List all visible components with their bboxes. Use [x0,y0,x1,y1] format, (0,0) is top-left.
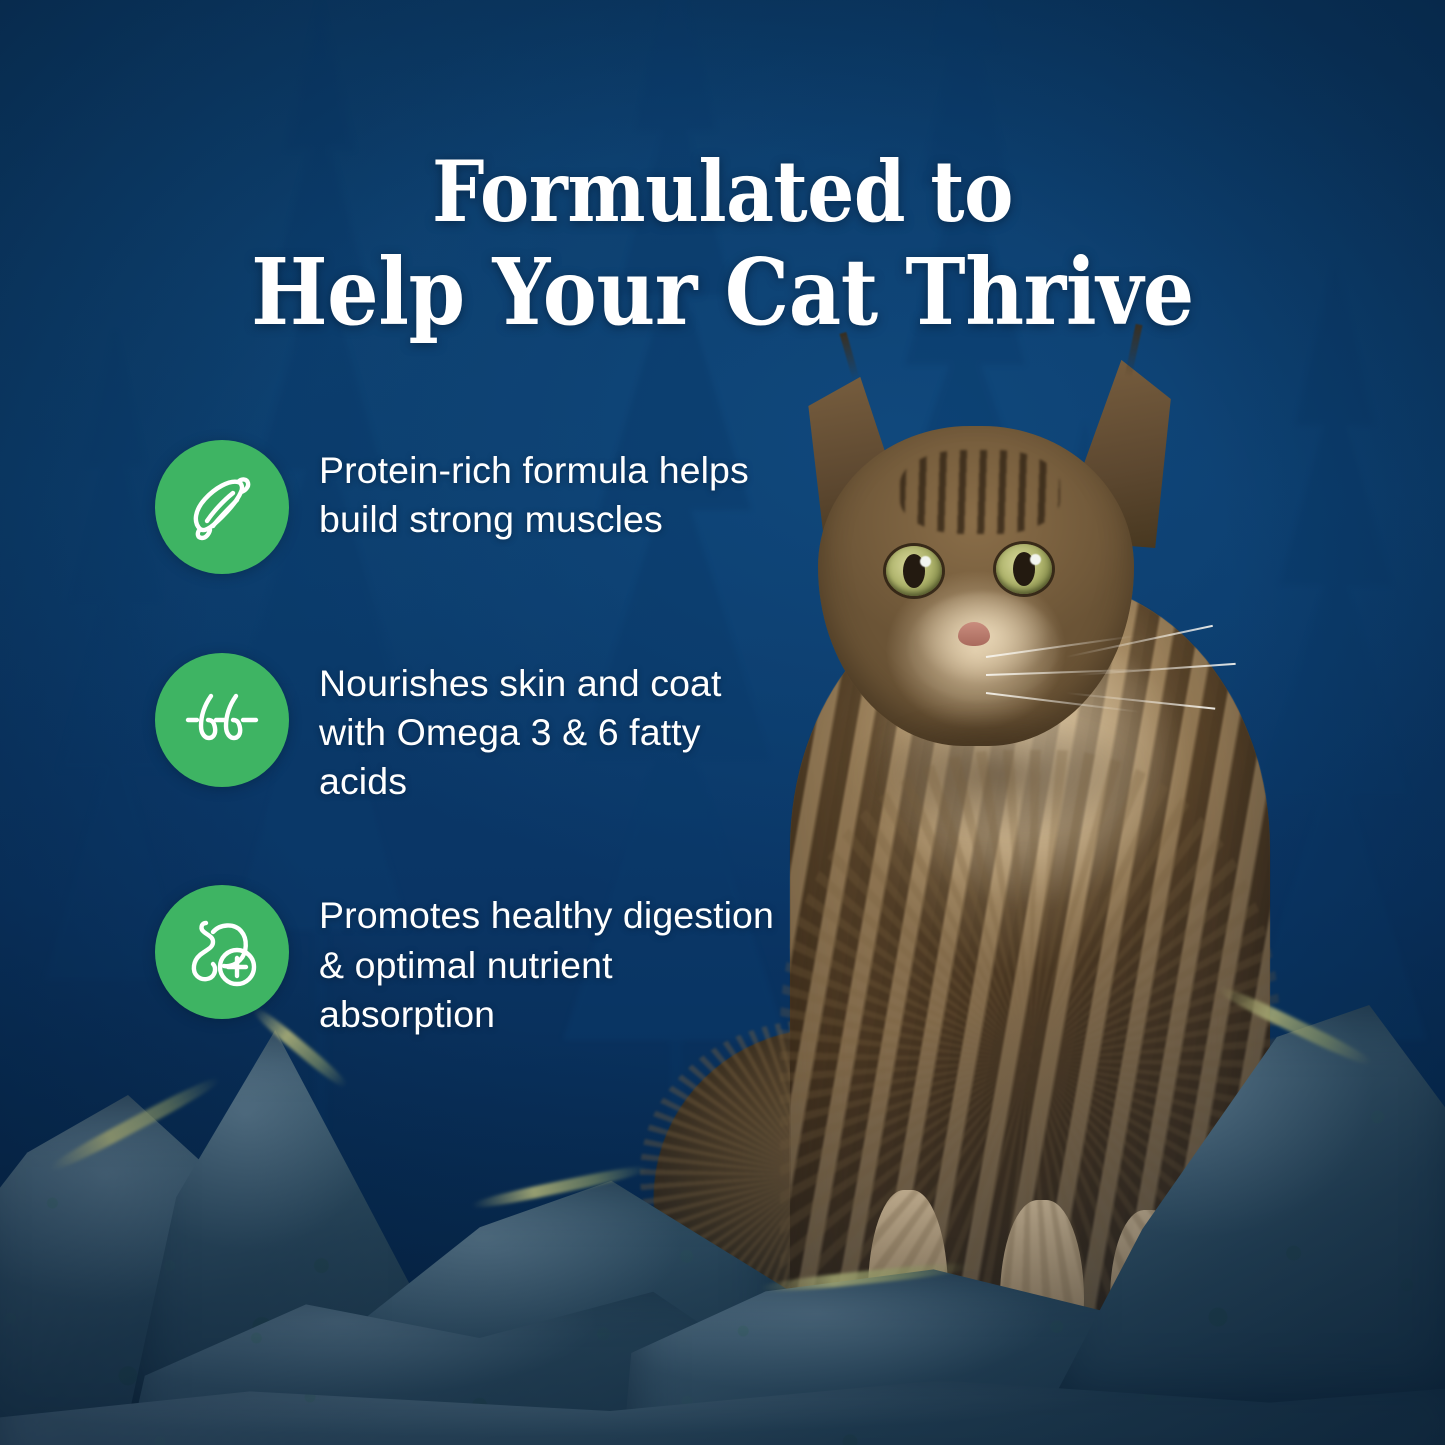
benefits-list: Protein-rich formula helps build strong … [155,440,775,1118]
page-title: Formulated to Help Your Cat Thrive [87,144,1359,345]
headline-line-2: Help Your Cat Thrive [87,240,1359,345]
muscle-icon [155,440,289,574]
benefit-text: Protein-rich formula helps build strong … [319,446,775,544]
cat-eye-right [996,544,1052,594]
cat-whiskers-right [976,648,1166,718]
benefit-item-digestion: Promotes healthy digestion & optimal nut… [155,885,775,1038]
rock-right-peak [1050,1005,1445,1405]
benefit-text: Promotes healthy digestion & optimal nut… [319,891,775,1038]
cat-eye-left [886,546,942,596]
benefit-text: Nourishes skin and coat with Omega 3 & 6… [319,659,775,806]
hair-follicle-icon [155,653,289,787]
cat-head-group [760,330,1240,760]
cat-eye-glint-right [1030,554,1041,565]
cat-eye-glint-left [920,556,931,567]
cat-whiskers-left [820,648,980,718]
infographic-canvas: Formulated to Help Your Cat Thrive Prote… [0,0,1445,1445]
benefit-item-protein: Protein-rich formula helps build strong … [155,440,775,574]
stomach-plus-icon [155,885,289,1019]
cat-forehead-markings [900,450,1060,534]
headline-line-1: Formulated to [87,144,1359,240]
cat-nose [958,622,990,646]
benefit-item-skin-coat: Nourishes skin and coat with Omega 3 & 6… [155,653,775,806]
